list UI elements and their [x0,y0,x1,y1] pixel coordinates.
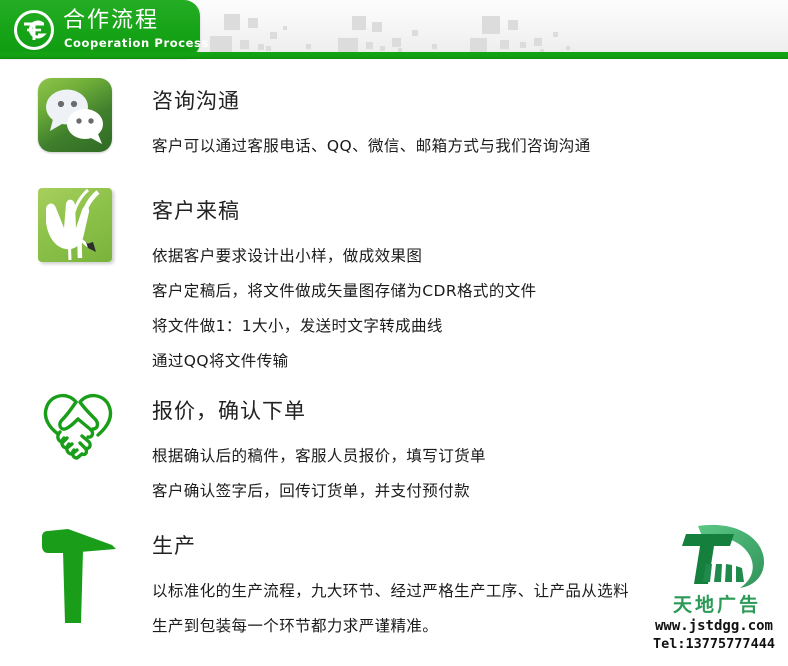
hand-drawing-pen-icon [38,188,116,266]
decor-square [392,38,401,47]
decor-square [432,44,437,49]
decor-square [270,32,277,39]
step-line: 以标准化的生产流程，九大环节、经过严格生产工序、让产品从选料 [152,579,629,601]
process-step-2: 客户来稿 依据客户要求设计出小样，做成效果图 客户定稿后，将文件做成矢量图存储为… [0,188,788,378]
wechat-bubbles-icon [38,78,116,156]
step-line: 客户可以通过客服电话、QQ、微信、邮箱方式与我们咨询沟通 [152,134,591,156]
watermark-brand: 天地广告 [652,590,782,617]
step-line: 根据确认后的稿件，客服人员报价，填写订货单 [152,444,486,466]
step-title: 生产 [152,530,196,560]
decor-square [380,46,385,51]
step-line: 生产到包装每一个环节都力求严谨精准。 [152,614,438,636]
step-title: 报价，确认下单 [152,395,306,425]
decor-square [366,42,373,49]
decor-square [553,32,558,37]
header-title-cn: 合作流程 [63,8,159,34]
decor-square [266,46,271,51]
decor-square [566,46,570,50]
decor-square [283,26,287,30]
decor-square [372,22,382,32]
process-step-3: 报价，确认下单 根据确认后的稿件，客服人员报价，填写订货单 客户确认签字后，回传… [0,388,788,518]
decor-square [248,18,258,28]
step-line: 客户确认签字后，回传订货单，并支付预付款 [152,479,470,501]
decor-square [482,16,500,34]
stg-circle-logo-icon [13,9,55,51]
page-header: 合作流程 Cooperation Process [0,0,788,62]
decor-square [508,20,518,30]
decor-square [412,30,418,36]
watermark-url: www.jstdgg.com [640,618,788,634]
decor-square [534,38,542,46]
decor-square [240,40,249,49]
decor-square [258,44,264,50]
watermark-tel: Tel:13775777444 [640,636,788,652]
header-green-rule [0,52,788,59]
decor-square [500,40,509,49]
header-title-en: Cooperation Process [64,36,209,50]
decor-square [306,44,311,49]
step-line: 将文件做1：1大小，发送时文字转成曲线 [152,314,443,336]
watermark: 天地广告 www.jstdgg.com Tel:13775777444 [640,518,788,666]
step-line: 客户定稿后，将文件做成矢量图存储为CDR格式的文件 [152,279,537,301]
hammer-icon [38,523,116,601]
step-line: 依据客户要求设计出小样，做成效果图 [152,244,422,266]
step-title: 客户来稿 [152,195,240,225]
process-step-1: 咨询沟通 客户可以通过客服电话、QQ、微信、邮箱方式与我们咨询沟通 [0,78,788,178]
handshake-icon [38,388,116,466]
decor-square [224,14,240,30]
step-line: 通过QQ将文件传输 [152,349,289,371]
step-title: 咨询沟通 [152,85,240,115]
decor-square [520,42,526,48]
decor-square [352,16,366,30]
